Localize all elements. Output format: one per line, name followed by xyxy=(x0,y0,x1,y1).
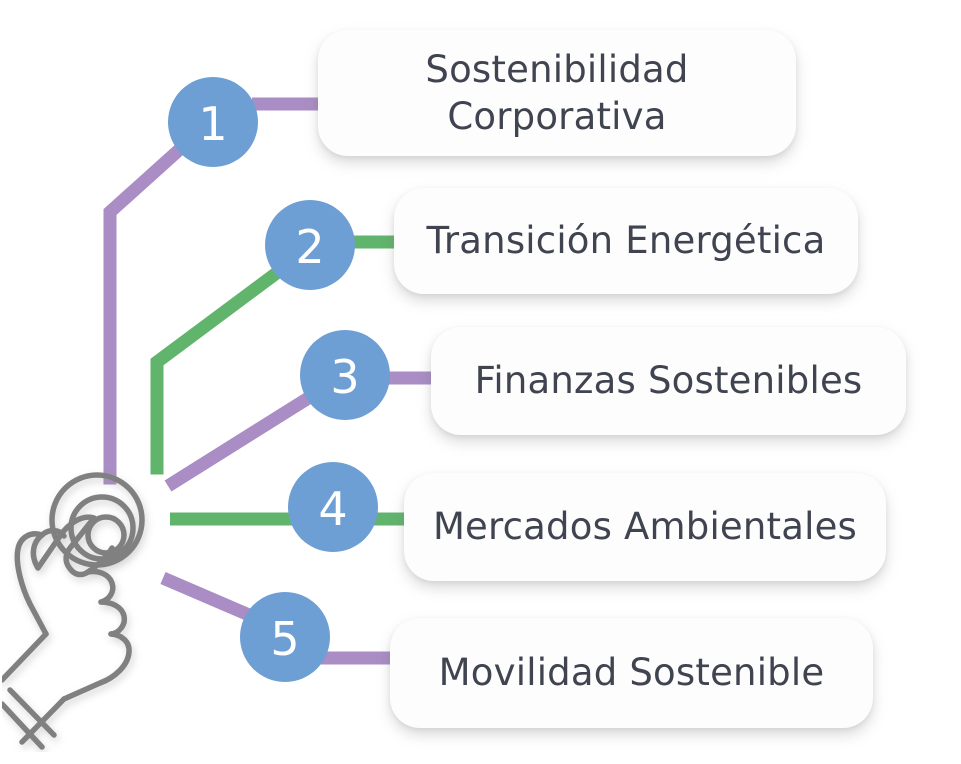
connector-line-3 xyxy=(168,392,318,486)
list-item-card-5[interactable]: Movilidad Sostenible xyxy=(390,618,873,728)
node-circle-1[interactable]: 1 xyxy=(168,77,258,167)
list-item-label-4: Mercados Ambientales xyxy=(433,503,857,550)
list-item-label-3: Finanzas Sostenibles xyxy=(475,357,863,404)
node-number-1: 1 xyxy=(198,97,227,151)
infographic-canvas: 1 2 3 4 5 xyxy=(0,0,961,764)
list-item-card-2[interactable]: Transición Energética xyxy=(394,188,858,294)
node-circle-4[interactable]: 4 xyxy=(288,462,378,552)
list-item-card-3[interactable]: Finanzas Sostenibles xyxy=(431,327,906,435)
node-number-5: 5 xyxy=(270,612,299,666)
connector-line-2 xyxy=(157,263,290,468)
node-number-2: 2 xyxy=(295,220,324,274)
node-circle-3[interactable]: 3 xyxy=(300,330,390,420)
connector-line-1 xyxy=(110,140,190,478)
node-number-4: 4 xyxy=(318,482,347,536)
list-item-label-5: Movilidad Sostenible xyxy=(439,649,825,696)
node-circle-5[interactable]: 5 xyxy=(240,592,330,682)
list-item-card-1[interactable]: Sostenibilidad Corporativa xyxy=(318,30,796,156)
node-number-3: 3 xyxy=(330,350,359,404)
list-item-label-2: Transición Energética xyxy=(427,217,826,264)
list-item-label-1: Sostenibilidad Corporativa xyxy=(425,46,688,141)
list-item-card-4[interactable]: Mercados Ambientales xyxy=(404,473,886,581)
node-circle-2[interactable]: 2 xyxy=(265,200,355,290)
